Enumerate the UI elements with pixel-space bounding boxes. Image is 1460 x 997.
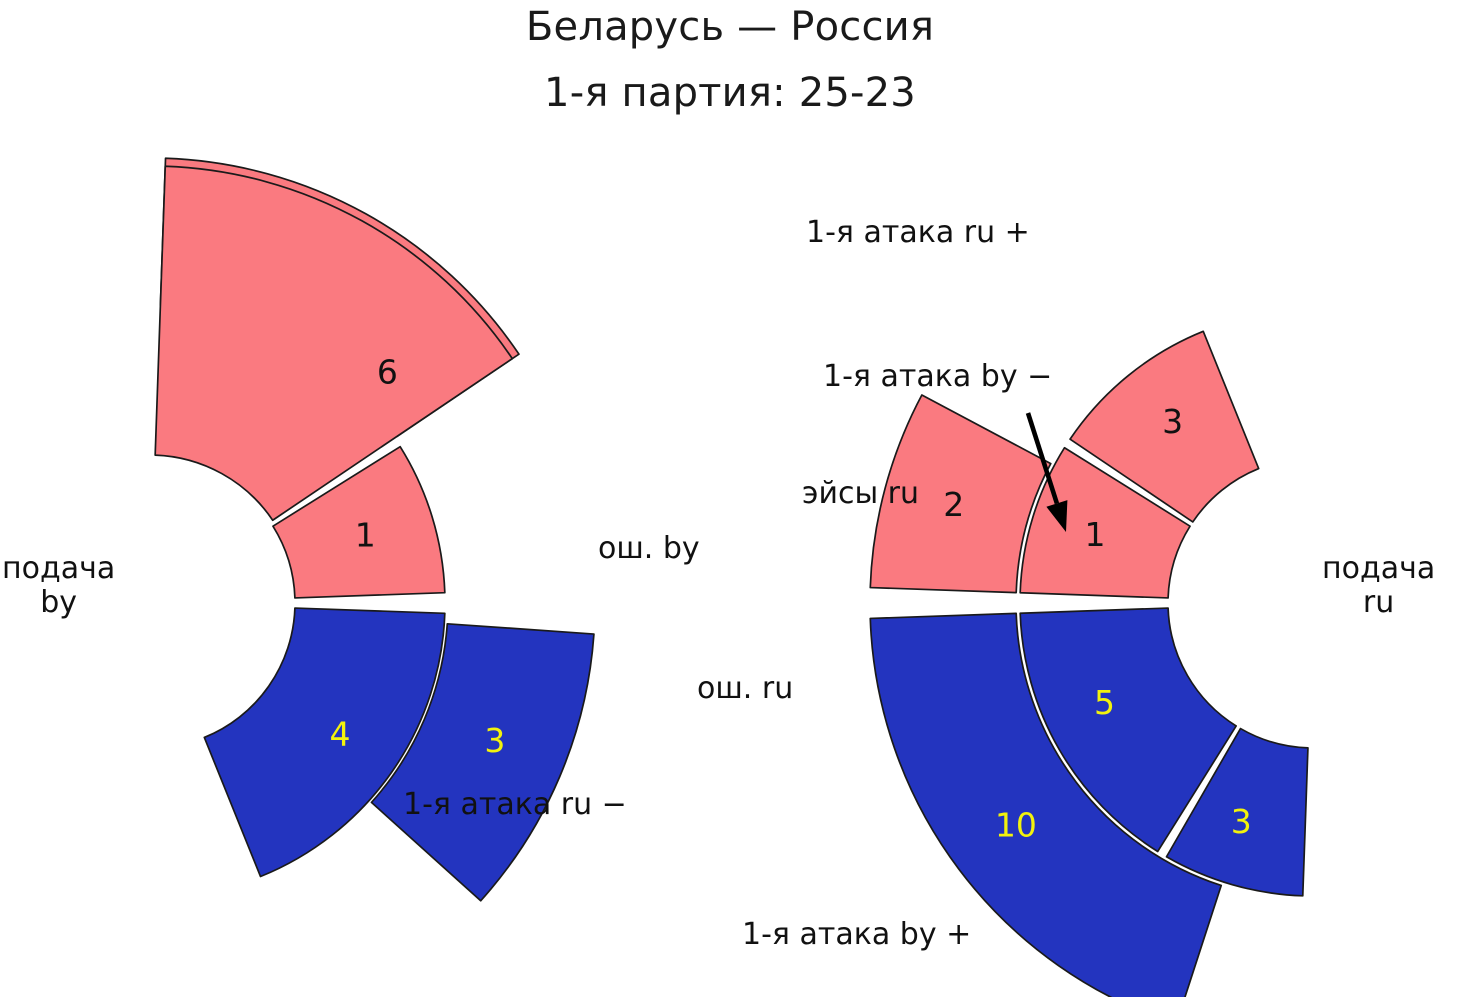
arrow-shaft <box>1028 413 1057 503</box>
arrow-head <box>1046 500 1067 532</box>
chart-canvas: Беларусь — Россия 1-я партия: 25-23 1410… <box>0 0 1460 997</box>
callout-arrow-layer <box>0 0 1460 997</box>
